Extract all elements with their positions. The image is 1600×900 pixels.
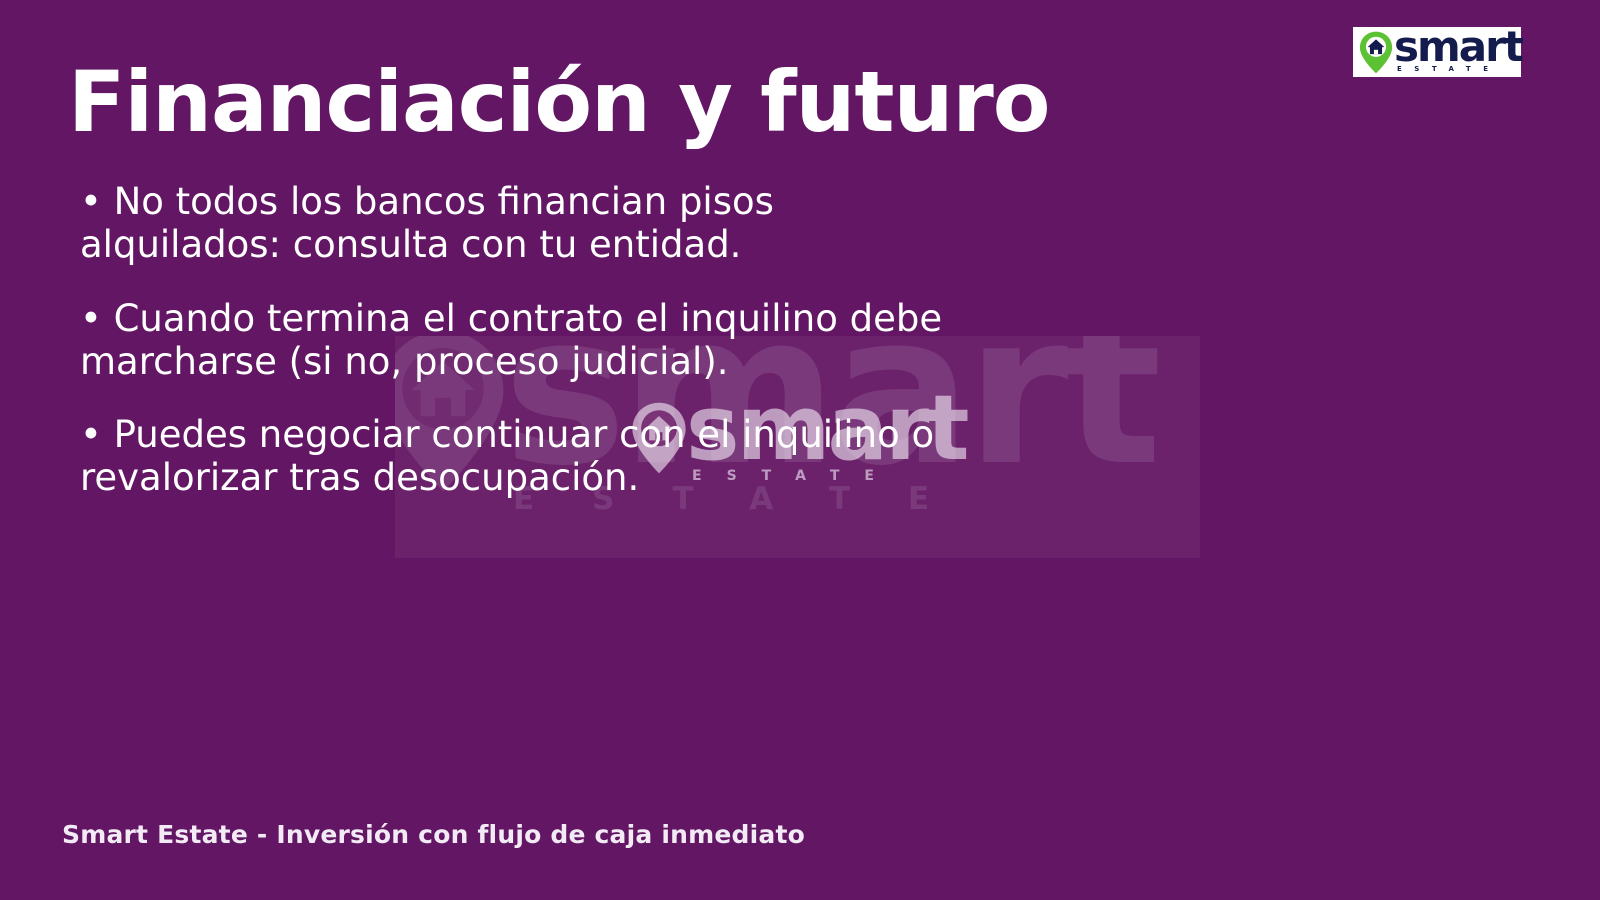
slide-title: Financiación y futuro xyxy=(68,58,1050,146)
bullet-item: • No todos los bancos financian pisos al… xyxy=(80,180,980,267)
map-pin-house-icon xyxy=(1359,31,1393,74)
brand-logo-word: smart xyxy=(1394,31,1522,64)
slide-footer: Smart Estate - Inversión con flujo de ca… xyxy=(62,820,805,849)
brand-logo: smart ESTATE xyxy=(1353,27,1521,77)
bullet-item: • Puedes negociar continuar con el inqui… xyxy=(80,413,980,500)
bullet-list: • No todos los bancos financian pisos al… xyxy=(80,180,980,530)
bullet-item: • Cuando termina el contrato el inquilin… xyxy=(80,297,980,384)
slide-canvas: smart ESTATE smart ESTATE smart ESTATE xyxy=(0,0,1600,900)
